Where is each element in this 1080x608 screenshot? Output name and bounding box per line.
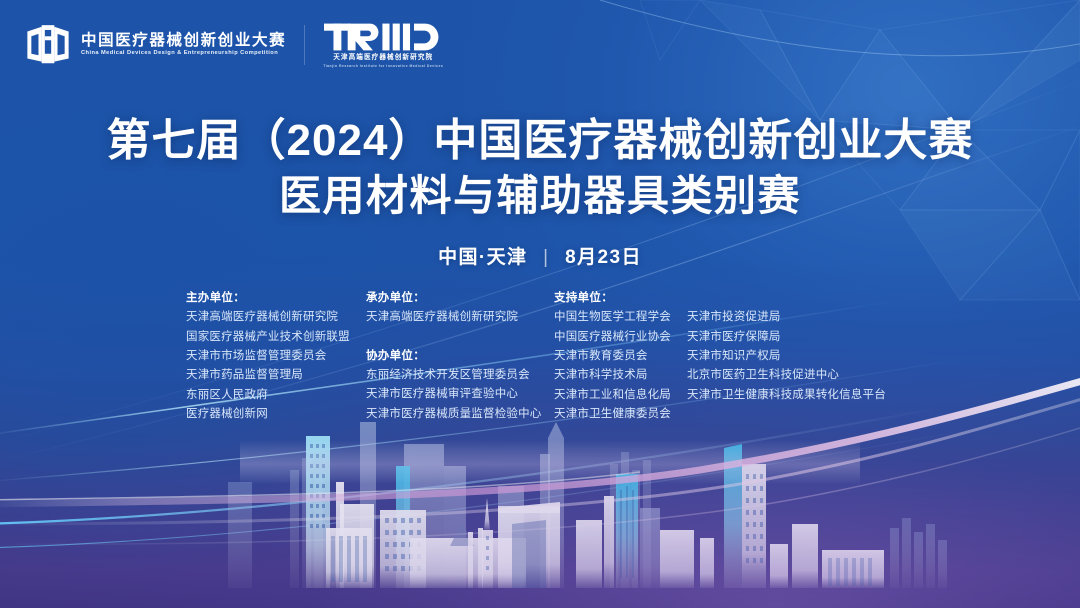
event-poster: 中国医疗器械创新创业大赛 China Medical Devices Desig… <box>0 0 1080 608</box>
organizer-item: 国家医疗器械产业技术创新联盟 <box>186 328 366 347</box>
logo-bar: 中国医疗器械创新创业大赛 China Medical Devices Desig… <box>24 22 443 68</box>
primary-logo-en: China Medical Devices Design & Entrepren… <box>81 51 290 57</box>
secondary-logo-en: Tianjin Research Institute for Innovativ… <box>323 65 443 68</box>
column-spacer <box>366 328 554 347</box>
organizer-item: 医疗器械创新网 <box>186 405 366 424</box>
event-meta: 中国·天津 | 8月23日 <box>0 242 1080 269</box>
organizer-column-host: 主办单位： 天津高端医疗器械创新研究院 国家医疗器械产业技术创新联盟 天津市市场… <box>186 289 366 424</box>
organizer-item: 天津市药品监督管理局 <box>186 366 366 385</box>
open-door-book-logo-icon <box>24 22 72 68</box>
organizer-item: 天津市工业和信息化局 <box>554 386 687 405</box>
supporters-grid: 中国生物医学工程学会 中国医疗器械行业协会 天津市教育委员会 天津市科学技术局 … <box>554 308 897 424</box>
organizer-item: 天津市市场监督管理委员会 <box>186 347 366 366</box>
organizer-item: 天津高端医疗器械创新研究院 <box>366 308 554 327</box>
organizer-heading: 承办单位： <box>366 289 554 308</box>
organizer-item: 天津市医疗器械审评查验中心 <box>366 385 554 404</box>
organizer-item: 东丽经济技术开发区管理委员会 <box>366 366 554 385</box>
organizer-item: 天津市卫生健康科技成果转化信息平台 <box>687 386 897 405</box>
organizer-item: 北京市医药卫生科技促进中心 <box>687 366 897 385</box>
organizer-item: 天津市卫生健康委员会 <box>554 405 687 424</box>
primary-logo-cn: 中国医疗器械创新创业大赛 <box>81 33 286 49</box>
logo-divider <box>304 25 305 65</box>
organizer-column-organizer: 承办单位： 天津高端医疗器械创新研究院 协办单位： 东丽经济技术开发区管理委员会… <box>366 289 554 424</box>
event-location: 中国·天津 <box>438 247 527 268</box>
primary-logo: 中国医疗器械创新创业大赛 China Medical Devices Desig… <box>24 22 286 68</box>
organizer-item: 天津高端医疗器械创新研究院 <box>186 308 366 327</box>
organizer-heading: 支持单位： <box>554 289 897 308</box>
triid-wordmark-icon <box>324 22 442 52</box>
supporters-sub-column-left: 中国生物医学工程学会 中国医疗器械行业协会 天津市教育委员会 天津市科学技术局 … <box>554 308 687 424</box>
organizer-item: 东丽区人民政府 <box>186 386 366 405</box>
meta-separator: | <box>543 247 549 269</box>
organizer-item: 中国生物医学工程学会 <box>554 308 687 327</box>
organizer-item: 天津市医疗保障局 <box>687 328 897 347</box>
organizer-heading: 主办单位： <box>186 289 366 308</box>
event-date: 8月23日 <box>565 247 642 268</box>
organizer-item: 天津市投资促进局 <box>687 308 897 327</box>
event-title-line2: 医用材料与辅助器具类别赛 <box>0 172 1080 220</box>
title-block: 第七届（2024）中国医疗器械创新创业大赛 医用材料与辅助器具类别赛 中国·天津… <box>0 116 1080 269</box>
secondary-logo-cn: 天津高端医疗器械创新研究院 <box>333 55 433 62</box>
organizer-item: 天津市教育委员会 <box>554 347 687 366</box>
organizer-item: 中国医疗器械行业协会 <box>554 328 687 347</box>
organizer-column-supporters: 支持单位： 中国生物医学工程学会 中国医疗器械行业协会 天津市教育委员会 天津市… <box>554 289 897 424</box>
supporters-sub-column-right: 天津市投资促进局 天津市医疗保障局 天津市知识产权局 北京市医药卫生科技促进中心… <box>687 308 897 424</box>
organizers-block: 主办单位： 天津高端医疗器械创新研究院 国家医疗器械产业技术创新联盟 天津市市场… <box>186 289 897 424</box>
organizer-heading: 协办单位： <box>366 347 554 366</box>
organizer-item: 天津市知识产权局 <box>687 347 897 366</box>
secondary-logo: 天津高端医疗器械创新研究院 Tianjin Research Institute… <box>323 22 443 68</box>
event-title-line1: 第七届（2024）中国医疗器械创新创业大赛 <box>0 116 1080 166</box>
organizer-item: 天津市医疗器械质量监督检验中心 <box>366 405 554 424</box>
organizer-item: 天津市科学技术局 <box>554 366 687 385</box>
